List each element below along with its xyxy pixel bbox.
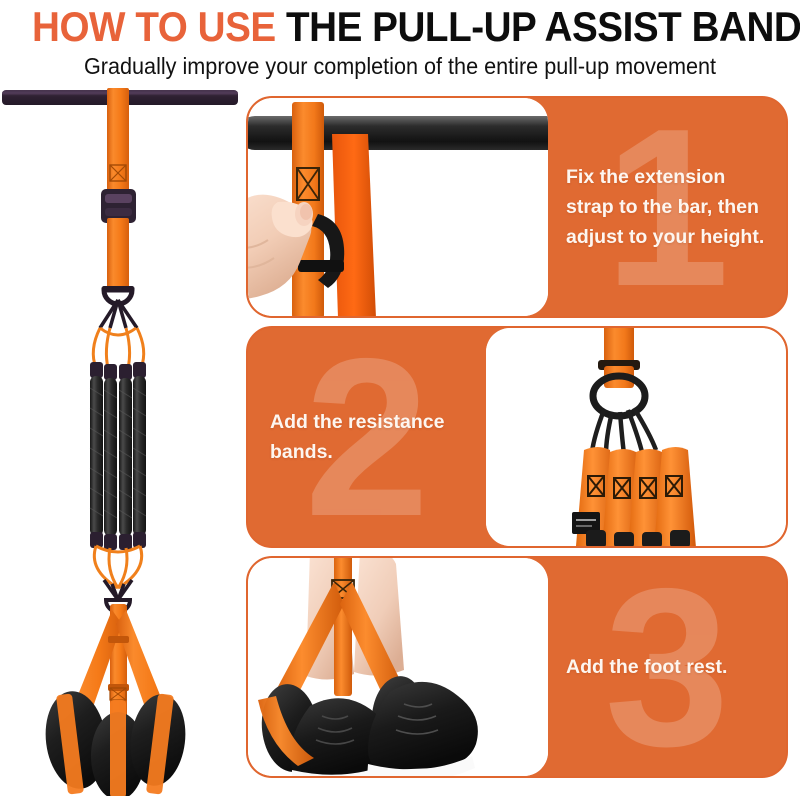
product-illustration-svg (0, 88, 240, 800)
step-1-instruction: Fix the extension strap to the bar, then… (548, 162, 786, 252)
product-illustration (0, 88, 240, 800)
step-2-photo-svg (486, 328, 786, 546)
step-1-text-cell: 1 Fix the extension strap to the bar, th… (548, 98, 786, 316)
step-3-instruction: Add the foot rest. (548, 652, 739, 682)
infographic-header: HOW TO USE THE PULL-UP ASSIST BAND Gradu… (0, 0, 800, 86)
step-3-photo-svg (248, 558, 548, 776)
foam-foot-pads-icon (40, 688, 190, 800)
step-2-instruction: Add the resistance bands. (248, 407, 486, 467)
step-1-photo-svg (248, 98, 548, 316)
step-3-text-cell: 3 Add the foot rest. (548, 558, 786, 776)
page-title-highlight: HOW TO USE (32, 3, 276, 50)
feet-in-foot-rest-photo (248, 558, 548, 776)
cam-buckle-icon (101, 189, 136, 223)
steps-panel-list: 1 Fix the extension strap to the bar, th… (246, 96, 788, 796)
infographic-body: 1 Fix the extension strap to the bar, th… (0, 88, 800, 800)
step-panel-2: 2 Add the resistance bands. (246, 326, 788, 548)
step-panel-3: 3 Add the foot rest. (246, 556, 788, 778)
bottom-spacer (0, 796, 800, 800)
band-gather-bottom-icon (104, 580, 132, 600)
resistance-bands-icon (90, 376, 146, 536)
page-title-rest: THE PULL-UP ASSIST BAND (276, 3, 800, 50)
extension-strap-icon (101, 88, 136, 290)
band-gather-top-icon (100, 300, 137, 328)
hand-attaching-strap-to-bar-photo (248, 98, 548, 316)
step-panel-1: 1 Fix the extension strap to the bar, th… (246, 96, 788, 318)
page-title: HOW TO USE THE PULL-UP ASSIST BAND (32, 4, 768, 50)
resistance-bands-on-d-ring-photo (486, 328, 786, 546)
band-loop-bottom-icon (94, 546, 141, 588)
step-2-text-cell: 2 Add the resistance bands. (248, 328, 486, 546)
page-subtitle: Gradually improve your completion of the… (24, 52, 776, 80)
